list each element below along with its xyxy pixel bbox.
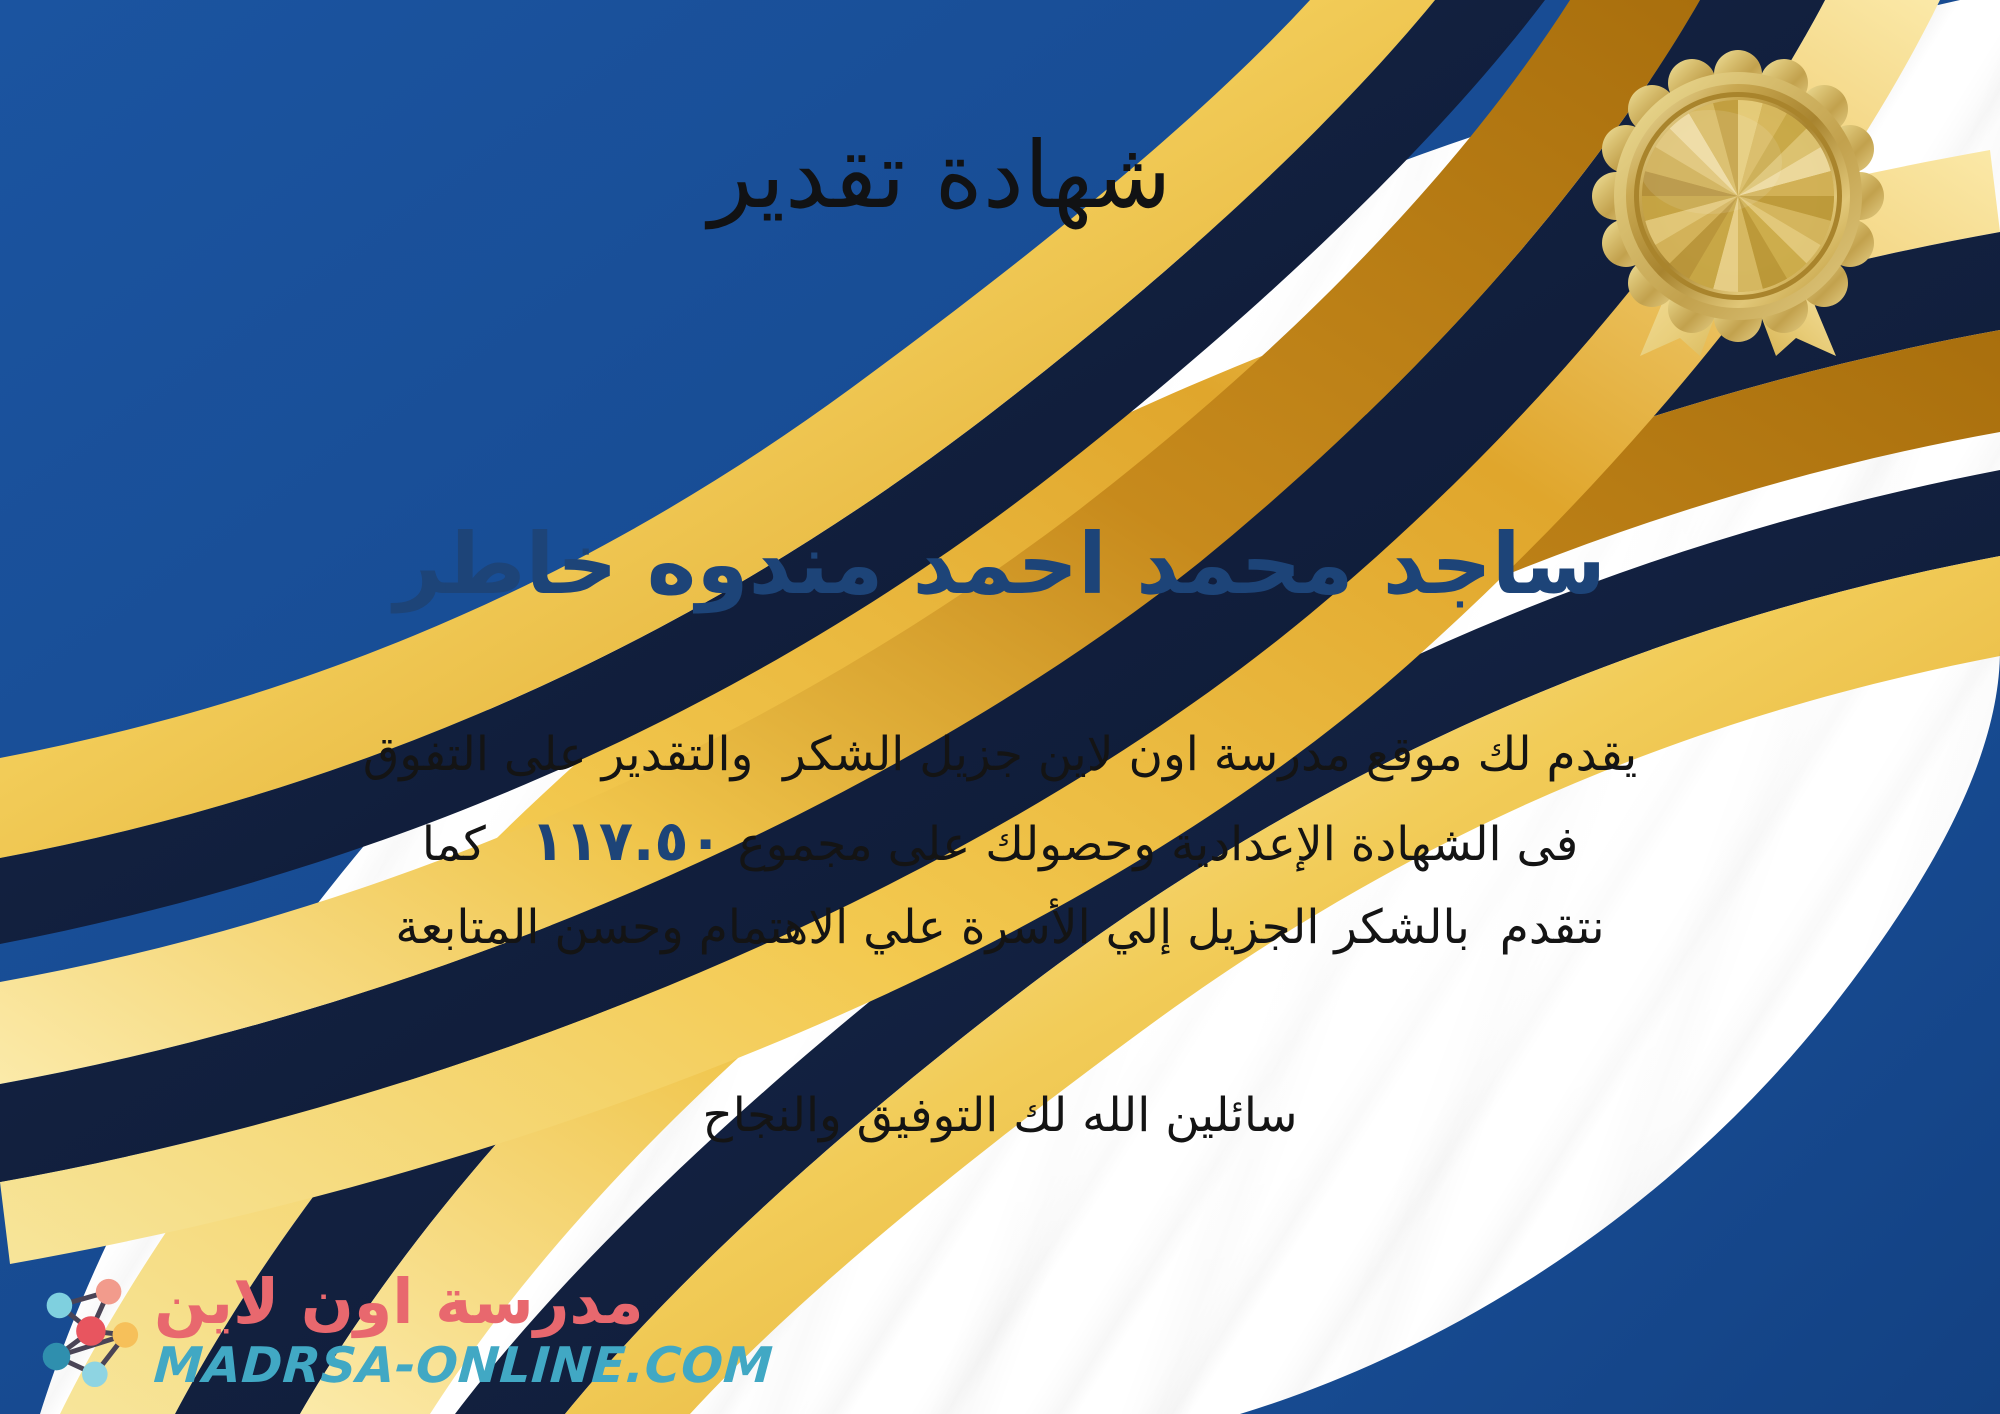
certificate-page: شهادة تقدير ساجد محمد احمد مندوه خاطر يق… (0, 0, 2000, 1414)
body-line-2-suffix: كما (422, 817, 531, 872)
body-line-3: نتقدم بالشكر الجزيل إلي الأسرة علي الاهت… (70, 889, 1930, 968)
recipient-name: ساجد محمد احمد مندوه خاطر (0, 510, 2000, 619)
brand-arabic-name: مدرسة اون لاين (154, 1271, 644, 1333)
network-nodes-icon (26, 1272, 144, 1390)
total-score-value: ١١٧.٥٠ (531, 809, 723, 874)
body-line-1: يقدم لك موقع مدرسة اون لاين جزيل الشكر و… (70, 716, 1930, 795)
body-line-2-prefix: فى الشهادة الإعدادية وحصولك على مجموع (723, 817, 1578, 872)
certificate-body: يقدم لك موقع مدرسة اون لاين جزيل الشكر و… (70, 716, 1930, 968)
gold-award-medal-icon (1588, 38, 1888, 358)
brand-logo[interactable]: مدرسة اون لاين MADRSA-ONLINE.COM (26, 1271, 773, 1390)
closing-wish: سائلين الله لك التوفيق والنجاح (0, 1088, 2000, 1143)
brand-website: MADRSA-ONLINE.COM (152, 1341, 774, 1390)
brand-text-group: مدرسة اون لاين MADRSA-ONLINE.COM (154, 1271, 773, 1390)
body-line-2: فى الشهادة الإعدادية وحصولك على مجموع ١١… (70, 795, 1930, 889)
